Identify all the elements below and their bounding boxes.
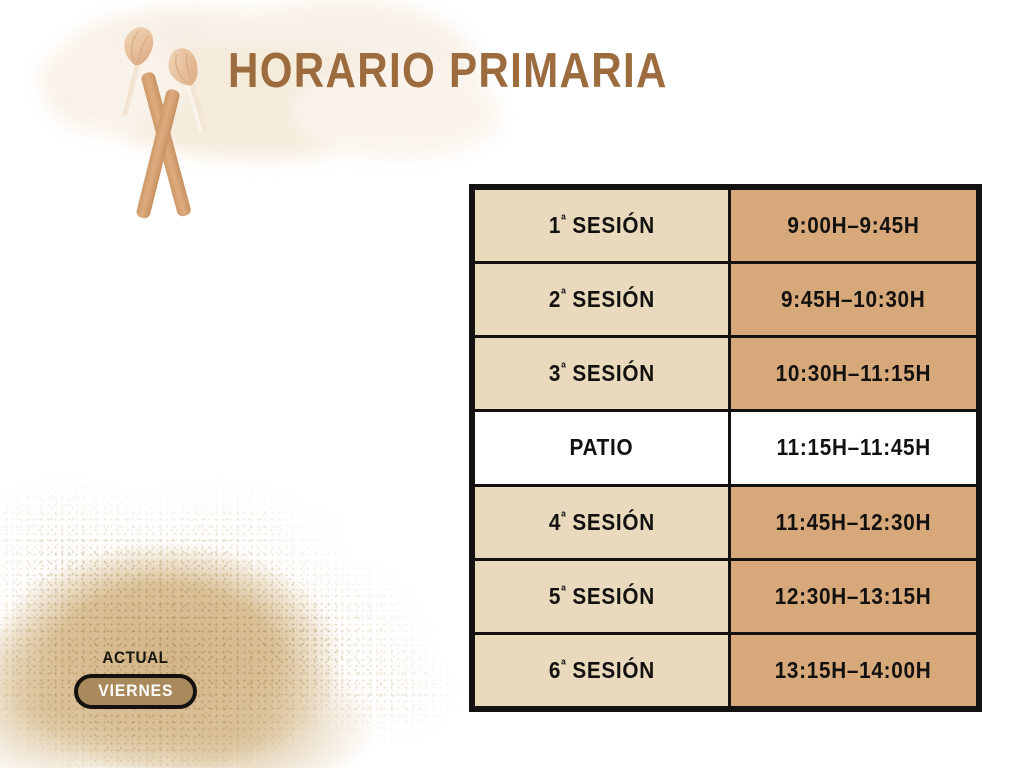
session-label-text: 3ª SESIÓN [548,360,654,387]
session-label-text: 6ª SESIÓN [548,657,654,684]
session-time-cell: 9:00H–9:45H [730,189,978,263]
session-label-cell: 6ª SESIÓN [474,633,730,707]
table-row: 3ª SESIÓN10:30H–11:15H [474,337,978,411]
session-time-cell: 13:15H–14:00H [730,633,978,707]
session-time-cell: 9:45H–10:30H [730,263,978,337]
session-label-cell: PATIO [474,411,730,485]
current-day-text: VIERNES [98,682,173,700]
session-label-text: 1ª SESIÓN [548,212,654,239]
session-label-cell: 2ª SESIÓN [474,263,730,337]
page-title: HORARIO PRIMARIA [228,42,668,100]
session-label-text: PATIO [570,434,634,461]
schedule-rows: 1ª SESIÓN9:00H–9:45H2ª SESIÓN9:45H–10:30… [474,189,978,708]
session-label-cell: 3ª SESIÓN [474,337,730,411]
table-row: PATIO11:15H–11:45H [474,411,978,485]
table-row: 4ª SESIÓN11:45H–12:30H [474,485,978,559]
session-time-text: 12:30H–13:15H [775,583,932,610]
page-title-text: HORARIO PRIMARIA [228,42,668,100]
session-time-text: 10:30H–11:15H [776,360,932,387]
session-time-text: 9:45H–10:30H [781,286,925,313]
session-label-cell: 4ª SESIÓN [474,485,730,559]
table-row: 2ª SESIÓN9:45H–10:30H [474,263,978,337]
session-label-cell: 5ª SESIÓN [474,559,730,633]
session-time-text: 11:15H–11:45H [776,434,930,461]
sand-texture [0,392,490,768]
session-label-text: 4ª SESIÓN [548,509,654,536]
session-label-cell: 1ª SESIÓN [474,189,730,263]
crossed-paintbrushes-icon [104,26,222,222]
current-day-badge[interactable]: VIERNES [74,674,198,709]
session-time-cell: 11:15H–11:45H [730,411,978,485]
current-label: ACTUAL [70,648,201,667]
table-row: 1ª SESIÓN9:00H–9:45H [474,189,978,263]
schedule-table: 1ª SESIÓN9:00H–9:45H2ª SESIÓN9:45H–10:30… [469,184,982,712]
session-time-cell: 11:45H–12:30H [730,485,978,559]
session-time-cell: 10:30H–11:15H [730,337,978,411]
table-row: 5ª SESIÓN12:30H–13:15H [474,559,978,633]
session-time-text: 13:15H–14:00H [775,657,932,684]
session-time-text: 9:00H–9:45H [787,212,919,239]
session-time-cell: 12:30H–13:15H [730,559,978,633]
table-row: 6ª SESIÓN13:15H–14:00H [474,633,978,707]
session-label-text: 2ª SESIÓN [548,286,654,313]
session-time-text: 11:45H–12:30H [776,509,932,536]
current-day-block: ACTUAL VIERNES [63,648,208,709]
slide-canvas: HORARIO PRIMARIA ACTUAL VIERNES 1ª SESIÓ… [0,0,1024,768]
session-label-text: 5ª SESIÓN [548,583,654,610]
